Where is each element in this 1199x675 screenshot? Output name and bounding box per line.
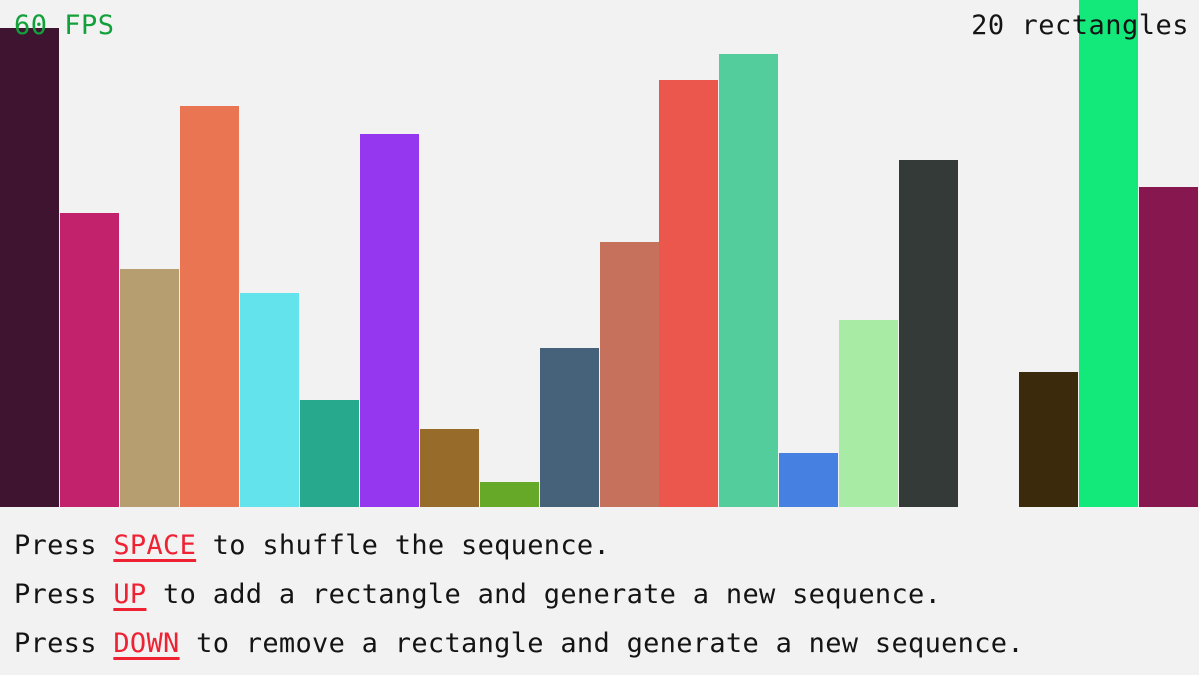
bar-rectangle (1079, 0, 1138, 507)
bar-rectangle (120, 269, 179, 507)
bar-rectangle (480, 482, 539, 507)
instruction-suffix: to remove a rectangle and generate a new… (180, 628, 1024, 659)
instruction-prefix: Press (14, 579, 113, 610)
bar-rectangle (0, 28, 59, 507)
bar-rectangle (779, 453, 838, 507)
instruction-line: Press UP to add a rectangle and generate… (14, 570, 1199, 619)
bar-rectangle (180, 106, 239, 507)
bar-rectangle (600, 242, 659, 507)
bar-rectangle (360, 134, 419, 507)
bar-rectangle (300, 400, 359, 507)
instructions-panel: Press SPACE to shuffle the sequence.Pres… (0, 507, 1199, 675)
instruction-suffix: to add a rectangle and generate a new se… (146, 579, 941, 610)
game-canvas: 60 FPS 20 rectangles Press SPACE to shuf… (0, 0, 1199, 675)
bar-rectangle (540, 348, 599, 507)
bar-rectangle (1019, 372, 1078, 507)
instruction-prefix: Press (14, 530, 113, 561)
fps-counter: 60 FPS (14, 12, 115, 39)
bar-rectangle (719, 54, 778, 507)
rectangle-count-label: 20 rectangles (971, 12, 1189, 39)
bar-rectangle (899, 160, 958, 507)
instruction-line: Press DOWN to remove a rectangle and gen… (14, 619, 1199, 668)
key-hint-up[interactable]: UP (113, 579, 146, 610)
key-hint-down[interactable]: DOWN (113, 628, 179, 659)
instruction-suffix: to shuffle the sequence. (196, 530, 610, 561)
instruction-line: Press SPACE to shuffle the sequence. (14, 521, 1199, 570)
bar-rectangle (1139, 187, 1198, 507)
key-hint-space[interactable]: SPACE (113, 530, 196, 561)
bar-rectangle (839, 320, 898, 507)
bar-rectangle (659, 80, 718, 507)
instruction-prefix: Press (14, 628, 113, 659)
bar-rectangle (60, 213, 119, 507)
bar-rectangle (240, 293, 299, 507)
bar-rectangle (420, 429, 479, 507)
rectangle-sequence-plot (0, 0, 1199, 507)
